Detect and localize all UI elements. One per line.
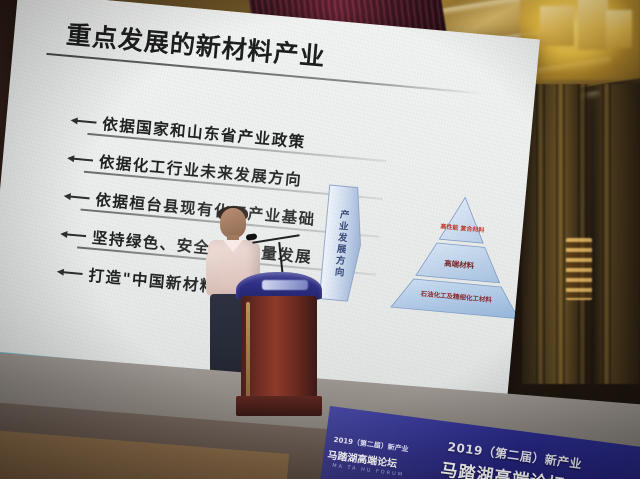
conference-photo-scene: 重点发展的新材料产业 依据国家和山东省产业政策 依据化工行业未来发展方向 xyxy=(0,0,640,479)
left-arrow-icon xyxy=(63,191,90,203)
banner-year-label: 2019（第二届）新产业 xyxy=(447,438,583,473)
banner-title: 马踏湖高端论坛 xyxy=(439,455,567,479)
speaker-head xyxy=(220,208,246,238)
podium-body xyxy=(241,296,317,400)
banner-secondary-sub: MA TA HU FORUM xyxy=(332,463,404,478)
left-arrow-icon xyxy=(60,229,87,241)
left-arrow-icon xyxy=(67,153,94,165)
banner-secondary-title: 马踏湖高端论坛 xyxy=(327,446,398,470)
podium-trim xyxy=(246,302,250,406)
slide-title: 重点发展的新材料产业 xyxy=(65,15,327,74)
wall-sconce-light xyxy=(566,238,592,300)
podium xyxy=(236,272,322,418)
podium-base xyxy=(236,396,322,416)
speaker-arm xyxy=(206,252,220,296)
left-arrow-icon xyxy=(70,115,97,127)
list-item-label: 依据化工行业未来发展方向 xyxy=(98,150,303,190)
list-item-label: 依据国家和山东省产业政策 xyxy=(101,112,306,152)
left-arrow-icon xyxy=(56,267,83,279)
podium-logo-icon xyxy=(262,280,308,290)
right-columns xyxy=(522,84,640,384)
pyramid-diagram: 高性能 复合材料 高端材料 石油化工及精细化工材料 xyxy=(389,187,532,320)
banner-secondary-year: 2019（第二届）新产业 xyxy=(333,435,409,455)
